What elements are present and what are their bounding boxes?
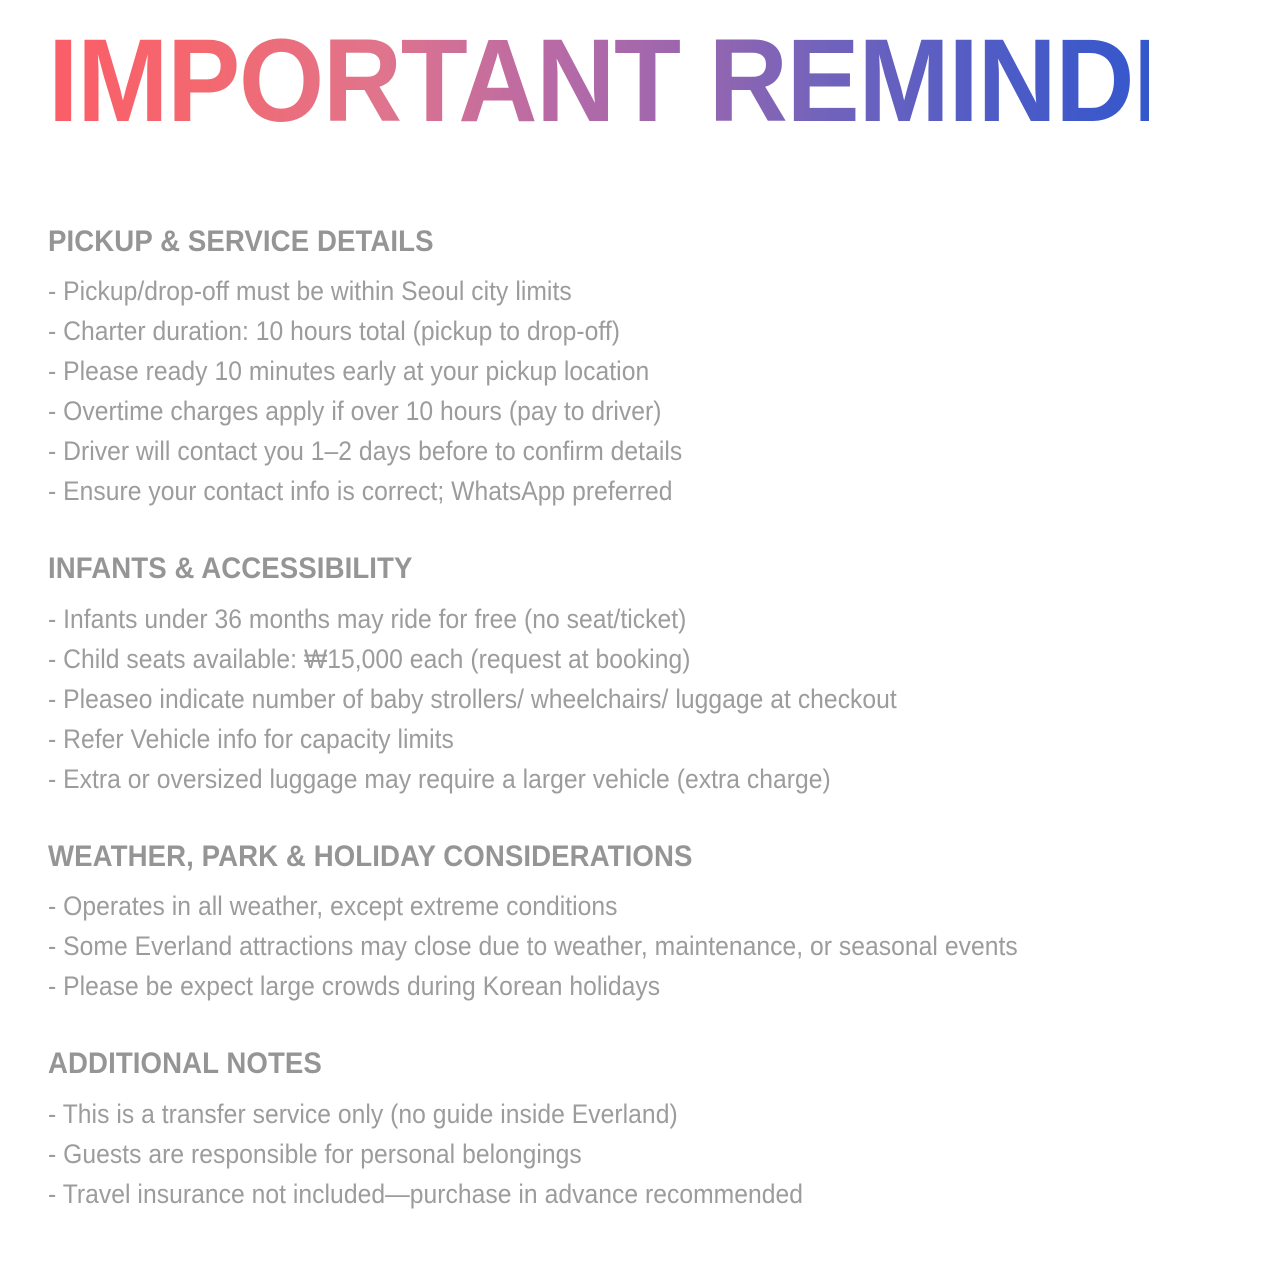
sections-container: PICKUP & SERVICE DETAILS - Pickup/drop-o… (48, 172, 1232, 1214)
list-item: - Guests are responsible for personal be… (48, 1134, 1149, 1174)
list-item: - Travel insurance not included—purchase… (48, 1174, 1149, 1214)
list-item: - Infants under 36 months may ride for f… (48, 599, 1149, 639)
list-item: - Child seats available: ₩15,000 each (r… (48, 639, 1149, 679)
list-item: - Refer Vehicle info for capacity limits (48, 719, 1149, 759)
list-item: - Extra or oversized luggage may require… (48, 759, 1149, 799)
list-item: - Please be expect large crowds during K… (48, 966, 1149, 1006)
section-heading: INFANTS & ACCESSIBILITY (48, 551, 1137, 586)
bullet-list: - Operates in all weather, except extrem… (48, 886, 1232, 1006)
list-item: - Overtime charges apply if over 10 hour… (48, 391, 1149, 431)
section-infants-accessibility: INFANTS & ACCESSIBILITY - Infants under … (48, 551, 1232, 798)
section-additional-notes: ADDITIONAL NOTES - This is a transfer se… (48, 1046, 1232, 1213)
title-container: IMPORTANT REMINDERS (48, 0, 1232, 172)
section-heading: PICKUP & SERVICE DETAILS (48, 224, 1137, 259)
list-item: - Some Everland attractions may close du… (48, 926, 1149, 966)
list-item: - This is a transfer service only (no gu… (48, 1094, 1149, 1134)
section-heading: WEATHER, PARK & HOLIDAY CONSIDERATIONS (48, 839, 1137, 874)
bullet-list: - Infants under 36 months may ride for f… (48, 599, 1232, 799)
list-item: - Driver will contact you 1–2 days befor… (48, 431, 1149, 471)
list-item: - Operates in all weather, except extrem… (48, 886, 1149, 926)
list-item: - Charter duration: 10 hours total (pick… (48, 311, 1149, 351)
reminders-page: IMPORTANT REMINDERS PICKUP & SERVICE DET… (0, 0, 1280, 1283)
list-item: - Pleaseo indicate number of baby stroll… (48, 679, 1149, 719)
list-item: - Ensure your contact info is correct; W… (48, 471, 1149, 511)
list-item: - Pickup/drop-off must be within Seoul c… (48, 271, 1149, 311)
section-pickup-service-details: PICKUP & SERVICE DETAILS - Pickup/drop-o… (48, 224, 1232, 511)
bullet-list: - This is a transfer service only (no gu… (48, 1094, 1232, 1214)
bullet-list: - Pickup/drop-off must be within Seoul c… (48, 271, 1232, 511)
section-heading: ADDITIONAL NOTES (48, 1046, 1137, 1081)
list-item: - Please ready 10 minutes early at your … (48, 351, 1149, 391)
page-title: IMPORTANT REMINDERS (48, 22, 1149, 140)
section-weather-park-holiday: WEATHER, PARK & HOLIDAY CONSIDERATIONS -… (48, 839, 1232, 1006)
